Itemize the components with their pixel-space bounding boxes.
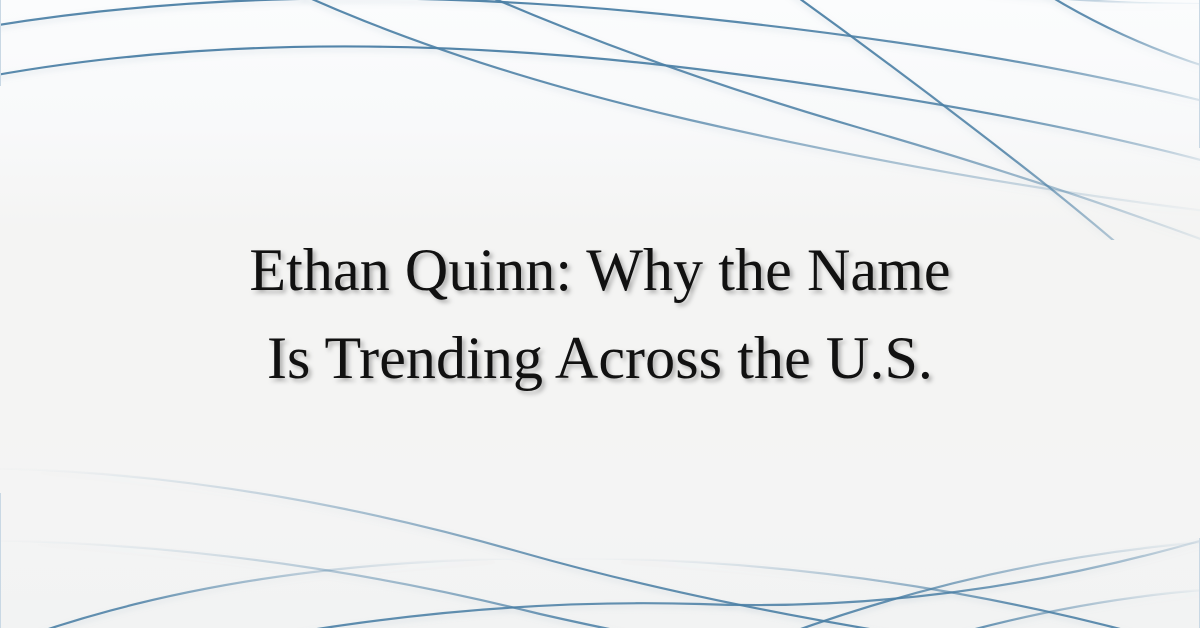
social-share-card: Ethan Quinn: Why the Name Is Trending Ac…	[0, 0, 1200, 628]
headline-line-2: Is Trending Across the U.S.	[267, 325, 933, 391]
headline-line-1: Ethan Quinn: Why the Name	[249, 237, 950, 303]
page-title: Ethan Quinn: Why the Name Is Trending Ac…	[249, 226, 950, 402]
headline-container: Ethan Quinn: Why the Name Is Trending Ac…	[0, 0, 1200, 628]
